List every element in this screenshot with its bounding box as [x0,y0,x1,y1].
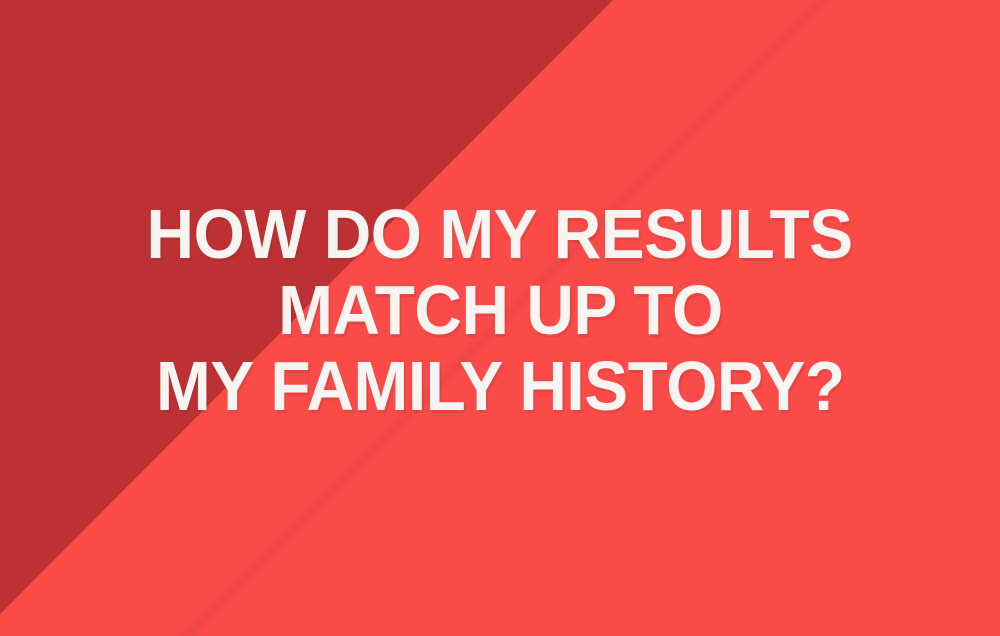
headline-line-2: MATCH UP TO [0,272,1000,348]
headline-line-3-text: MY FAMILY HISTORY? [156,348,845,424]
headline-line-1-text: HOW DO MY RESULTS [147,196,853,272]
headline-line-2-text: MATCH UP TO [278,272,722,348]
promo-banner: HOW DO MY RESULTS MATCH UP TO MY FAMILY … [0,0,1000,636]
headline: HOW DO MY RESULTS MATCH UP TO MY FAMILY … [0,196,1000,424]
headline-line-1: HOW DO MY RESULTS [0,196,1000,272]
headline-line-3: MY FAMILY HISTORY? [0,348,1000,424]
